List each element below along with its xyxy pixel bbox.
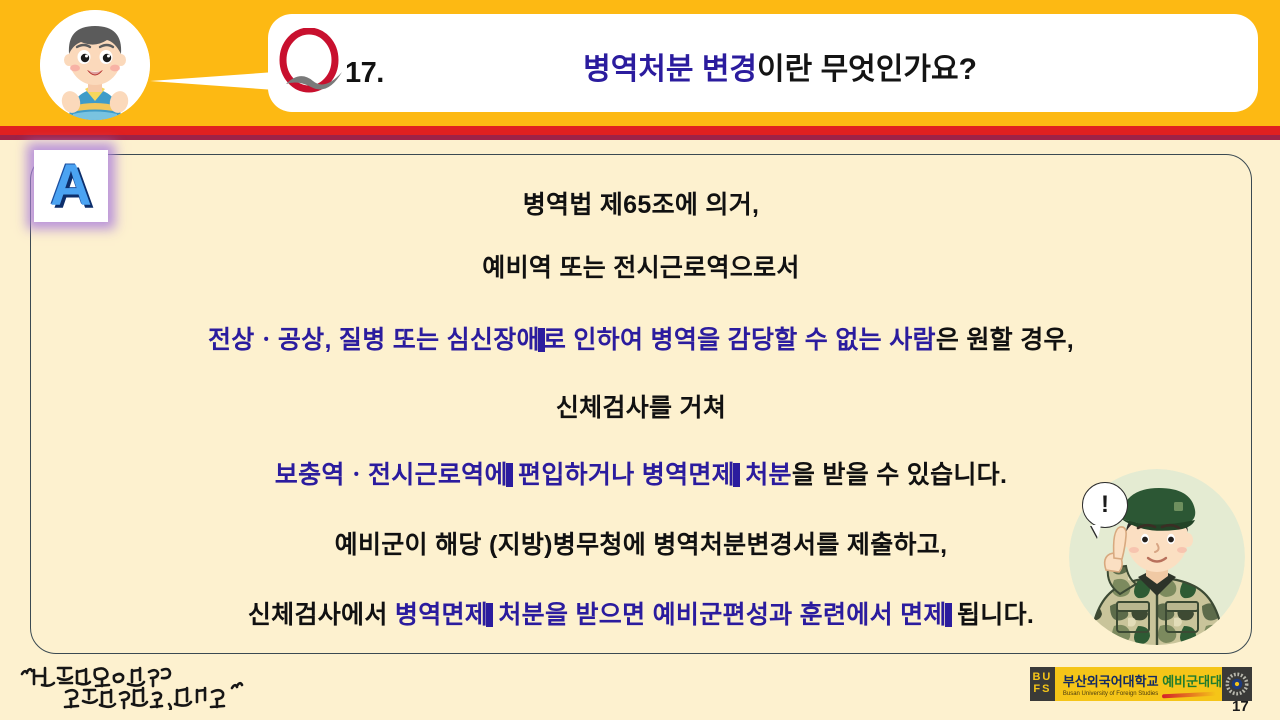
answer-line-5-segment-3: 편입하거나 병역면제	[511, 461, 735, 489]
logo-name-block: 부산외국어대학교 예비군대대 Busan University of Forei…	[1055, 667, 1222, 701]
boy-mascot-icon	[40, 10, 150, 120]
question-number: 17.	[345, 57, 384, 90]
mascot-avatar	[40, 10, 150, 120]
answer-line-2: 예비역 또는 전시근로역으로서	[30, 248, 1252, 284]
answer-line-5-segment-6: 을 받을 수 있습니다.	[792, 461, 1007, 489]
answer-line-7-segment-1: 신체검사에서	[248, 601, 395, 629]
page-title: 병역처분 변경이란 무엇인가요?	[380, 44, 1180, 88]
slogan-icon	[14, 658, 264, 710]
answer-line-5-segment-5: 처분	[738, 461, 792, 489]
answer-line-7-segment-4: 처분을 받으면 예비군편성과 훈련에서 면제	[491, 601, 947, 629]
logo-emblem	[1222, 667, 1252, 701]
page-number: 17	[1232, 698, 1249, 715]
answer-line-6-segment-1: 예비군이 해당 (지방)병무청에 병역처분변경서를 제출하고,	[335, 531, 948, 559]
answer-line-3: 전상ㆍ공상, 질병 또는 심신장애로 인하여 병역을 감당할 수 없는 사람은 …	[30, 320, 1252, 356]
header-divider-red	[0, 126, 1280, 135]
answer-line-3-segment-4: 은 원할 경우,	[936, 326, 1074, 354]
answer-line-7-segment-2: 병역면제	[395, 601, 488, 629]
answer-line-2-segment-1: 예비역 또는 전시근로역으로서	[482, 254, 799, 282]
answer-line-5-segment-1: 보충역ㆍ전시근로역에	[275, 461, 508, 489]
answer-line-1: 병역법 제65조에 의거,	[30, 185, 1252, 221]
answer-line-3-segment-1: 전상ㆍ공상, 질병 또는 심신장애	[208, 326, 540, 354]
answer-line-3-segment-3: 로 인하여 병역을 감당할 수 없는 사람	[543, 326, 936, 354]
header-divider-maroon	[0, 135, 1280, 140]
university-logo: BU FS 부산외국어대학교 예비군대대 Busan University of…	[1030, 667, 1252, 701]
soldier-speech-bubble: !	[1082, 482, 1128, 528]
logo-mark-line2: FS	[1033, 684, 1051, 696]
logo-unit-name: 예비군대대	[1162, 674, 1222, 689]
page-title-highlight: 병역처분 변경	[583, 53, 757, 86]
logo-name-korean: 부산외국어대학교 예비군대대	[1063, 671, 1222, 690]
handwritten-slogan	[14, 658, 264, 710]
logo-university-name: 부산외국어대학교	[1063, 674, 1159, 689]
answer-line-1-segment-1: 병역법 제65조에 의거,	[523, 191, 760, 219]
answer-line-7-segment-6: 됩니다.	[950, 601, 1034, 629]
page-title-rest: 이란 무엇인가요?	[757, 53, 977, 86]
logo-bufs-mark: BU FS	[1030, 667, 1055, 701]
question-bubble-tail	[150, 72, 275, 90]
wreath-emblem-icon	[1222, 669, 1252, 699]
answer-line-4-segment-1: 신체검사를 거쳐	[556, 394, 726, 422]
q-letter-icon	[276, 28, 348, 98]
answer-line-4: 신체검사를 거쳐	[30, 388, 1252, 424]
